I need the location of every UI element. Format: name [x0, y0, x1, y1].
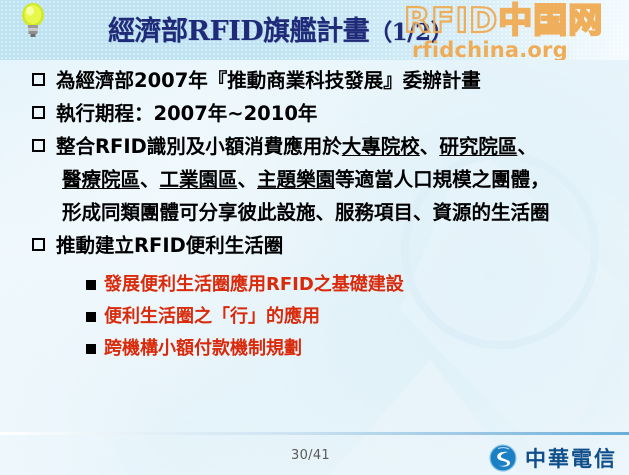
footer-divider: [0, 432, 629, 435]
bullet-label-underlined: 大專院校: [342, 135, 420, 158]
bullet-label-underlined: 研究院區: [439, 135, 517, 158]
slide-content: 為經濟部2007年『推動商業科技發展』委辦計畫 執行期程：2007年~2010年…: [0, 64, 629, 424]
sub-bullet-label: 便利生活圈之「行」的應用: [104, 306, 320, 327]
bullet-label-sep: 、: [140, 168, 160, 191]
sub-bullet-label: 發展便利生活圈應用RFID之基礎建設: [104, 274, 404, 295]
bullet-label-part: 等適當人口規模之團體，: [335, 168, 550, 191]
filled-square-bullet-icon: [86, 280, 96, 290]
hollow-square-bullet-icon: [32, 106, 45, 119]
bullet-item: 執行期程：2007年~2010年: [0, 97, 629, 130]
hollow-square-bullet-icon: [32, 73, 45, 86]
brand-name: 中華電信: [525, 443, 617, 473]
bullet-continuation-line: 醫療院區、工業園區、主題樂園等適當人口規模之團體，: [0, 163, 629, 196]
page-title: 經濟部RFID旗艦計畫（1/2）: [108, 12, 528, 53]
sub-bullet-item: 跨機構小額付款機制規劃: [0, 333, 629, 365]
chunghwa-telecom-logo-icon: [489, 444, 517, 472]
bullet-label: 執行期程：2007年~2010年: [56, 102, 317, 125]
sub-bullet-label: 跨機構小額付款機制規劃: [104, 338, 302, 359]
bullet-label-underlined: 主題樂園: [257, 168, 335, 191]
sub-bullet-item: 便利生活圈之「行」的應用: [0, 301, 629, 333]
bullet-label-underlined: 醫療院區: [62, 168, 140, 191]
bullet-item: 整合RFID識別及小額消費應用於大專院校、研究院區、: [0, 130, 629, 163]
filled-square-bullet-icon: [86, 344, 96, 354]
page-title-main: 經濟部RFID旗艦計畫: [108, 16, 369, 47]
hollow-square-bullet-icon: [32, 139, 45, 152]
slide: 經濟部RFID旗艦計畫（1/2） RFID中国网 rfidchina.org 為…: [0, 0, 629, 475]
bullet-continuation-line: 形成同類團體可分享彼此設施、服務項目、資源的生活圈: [0, 196, 629, 229]
bullet-label-part: 形成同類團體可分享彼此設施、服務項目、資源的生活圈: [62, 201, 550, 224]
bullet-label-underlined: 工業園區: [160, 168, 238, 191]
bullet-label: 為經濟部2007年『推動商業科技發展』委辦計畫: [56, 69, 481, 92]
bullet-label-sep: 、: [517, 135, 537, 158]
sub-bullet-item: 發展便利生活圈應用RFID之基礎建設: [0, 269, 629, 301]
bullet-label-sep: 、: [238, 168, 258, 191]
page-number: 30/41: [291, 448, 330, 463]
brand-logo-group: 中華電信: [489, 443, 617, 473]
spacer: [0, 262, 629, 269]
bullet-label-sep: 、: [420, 135, 440, 158]
page-title-suffix: （1/2）: [369, 19, 453, 46]
filled-square-bullet-icon: [86, 312, 96, 322]
slide-header: 經濟部RFID旗艦計畫（1/2） RFID中国网 rfidchina.org: [0, 0, 629, 60]
bullet-label-part: 整合RFID識別及小額消費應用於: [56, 135, 342, 158]
bullet-item: 推動建立RFID便利生活圈: [0, 229, 629, 262]
bullet-label: 推動建立RFID便利生活圈: [56, 234, 283, 257]
bullet-item: 為經濟部2007年『推動商業科技發展』委辦計畫: [0, 64, 629, 97]
hollow-square-bullet-icon: [32, 238, 45, 251]
lightbulb-icon: [18, 2, 48, 38]
